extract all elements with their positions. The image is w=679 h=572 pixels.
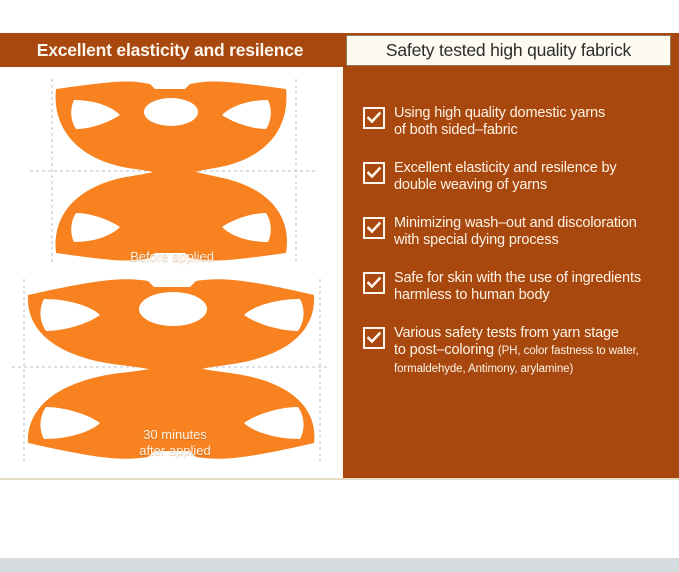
list-item: Excellent elasticity and resilence by do…	[340, 160, 679, 194]
list-item-line-2: double weaving of yarns	[394, 177, 547, 193]
list-item: Using high quality domestic yarns of bot…	[340, 105, 679, 139]
list-item-line-2: harmless to human body	[394, 287, 549, 303]
caption-after-applied: 30 minutes after applied	[110, 427, 240, 459]
list-item-line-2: with special dying process	[394, 232, 559, 248]
panel-divider	[340, 67, 343, 478]
list-item-line-1: Various safety tests from yarn stage	[394, 325, 619, 341]
list-item-line-2-detail: (PH, color fastness to water,	[498, 345, 639, 357]
checkbox-checked-icon	[363, 162, 385, 184]
header-right-bar: Safety tested high quality fabrick	[340, 33, 679, 67]
list-item-line-2: to post–coloring	[394, 342, 494, 358]
list-item-line-1: Safe for skin with the use of ingredient…	[394, 270, 641, 286]
list-item-text: Various safety tests from yarn stage to …	[394, 325, 639, 378]
checkbox-checked-icon	[363, 272, 385, 294]
bottom-hairline	[0, 478, 679, 480]
mask-before-applied	[0, 67, 340, 267]
list-item: Various safety tests from yarn stage to …	[340, 325, 679, 378]
list-item: Safe for skin with the use of ingredient…	[340, 270, 679, 304]
list-item-text: Safe for skin with the use of ingredient…	[394, 270, 641, 304]
list-item-line-1: Minimizing wash–out and discoloration	[394, 215, 637, 231]
feature-list: Using high quality domestic yarns of bot…	[340, 67, 679, 378]
product-feature-panel: Excellent elasticity and resilence Safet…	[0, 0, 679, 572]
list-item-text: Excellent elasticity and resilence by do…	[394, 160, 617, 194]
list-item: Minimizing wash–out and discoloration wi…	[340, 215, 679, 249]
header-left-bar: Excellent elasticity and resilence	[0, 33, 340, 67]
checkbox-checked-icon	[363, 217, 385, 239]
left-panel: Before applied 30 minutes after applied	[0, 67, 340, 478]
list-item-line-2: of both sided–fabric	[394, 122, 518, 138]
list-item-line-1: Using high quality domestic yarns	[394, 105, 605, 121]
header-left-title: Excellent elasticity and resilence	[37, 40, 304, 61]
list-item-text: Minimizing wash–out and discoloration wi…	[394, 215, 637, 249]
header-right-title: Safety tested high quality fabrick	[386, 40, 631, 61]
header-right-box: Safety tested high quality fabrick	[346, 35, 671, 66]
list-item-line-1: Excellent elasticity and resilence by	[394, 160, 617, 176]
header-row: Excellent elasticity and resilence Safet…	[0, 33, 679, 67]
checkbox-checked-icon	[363, 107, 385, 129]
caption-before-applied: Before applied	[112, 249, 232, 265]
bottom-band	[0, 558, 679, 572]
right-panel: Using high quality domestic yarns of bot…	[340, 67, 679, 478]
list-item-line-3: formaldehyde, Antimony, arylamine)	[394, 363, 573, 375]
checkbox-checked-icon	[363, 327, 385, 349]
list-item-text: Using high quality domestic yarns of bot…	[394, 105, 605, 139]
